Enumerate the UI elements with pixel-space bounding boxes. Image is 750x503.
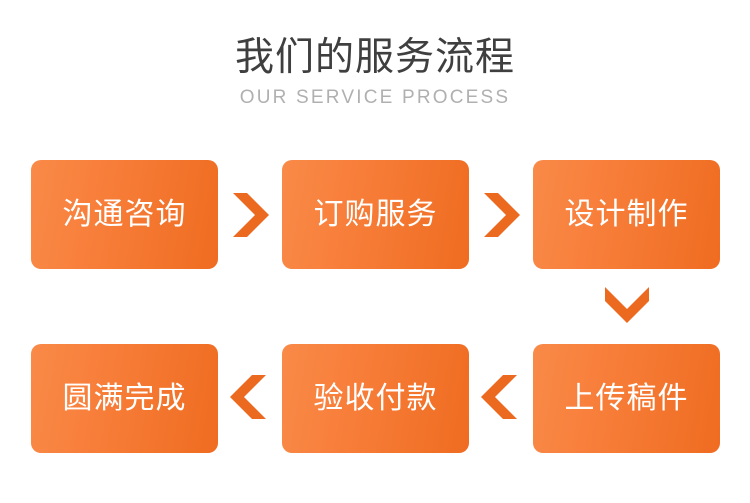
process-flow-diagram: 沟通咨询 订购服务 设计制作 上传稿件 bbox=[0, 0, 750, 503]
process-step-label: 上传稿件 bbox=[565, 382, 689, 416]
process-step-1[interactable]: 沟通咨询 bbox=[31, 160, 218, 269]
process-step-6[interactable]: 圆满完成 bbox=[31, 344, 218, 453]
chevron-left-icon bbox=[479, 373, 521, 421]
chevron-right-icon bbox=[480, 191, 522, 239]
process-step-5[interactable]: 验收付款 bbox=[282, 344, 469, 453]
process-step-label: 验收付款 bbox=[314, 382, 438, 416]
service-process-infographic: 我们的服务流程 OUR SERVICE PROCESS 沟通咨询 订购服务 设计… bbox=[0, 0, 750, 503]
process-step-label: 沟通咨询 bbox=[63, 198, 187, 232]
process-step-label: 订购服务 bbox=[314, 198, 438, 232]
process-step-label: 设计制作 bbox=[565, 198, 689, 232]
chevron-left-icon bbox=[228, 373, 270, 421]
process-step-3[interactable]: 设计制作 bbox=[533, 160, 720, 269]
process-step-label: 圆满完成 bbox=[63, 382, 187, 416]
process-step-2[interactable]: 订购服务 bbox=[282, 160, 469, 269]
chevron-right-icon bbox=[229, 191, 271, 239]
process-step-4[interactable]: 上传稿件 bbox=[533, 344, 720, 453]
chevron-down-icon bbox=[603, 284, 651, 324]
